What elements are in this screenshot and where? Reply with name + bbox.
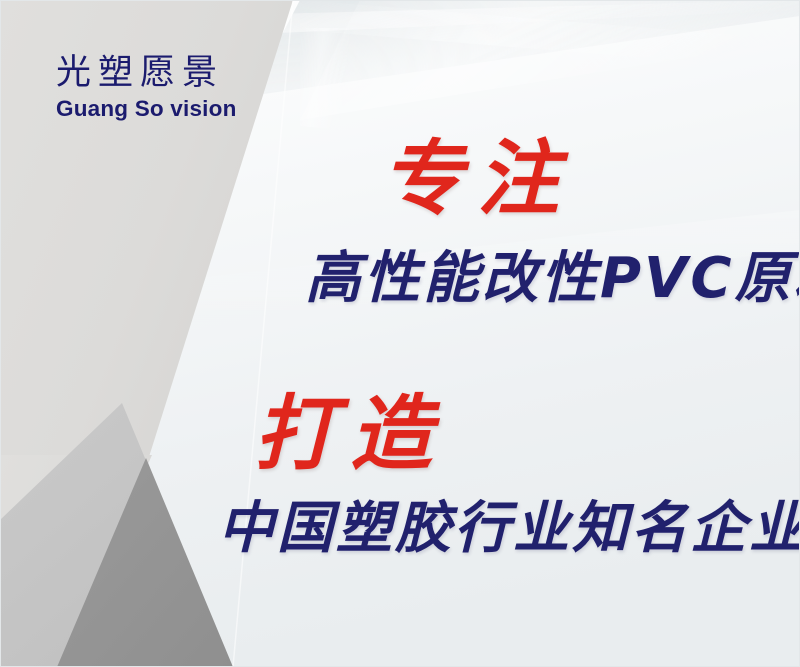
brand-logo: 光塑愿景 Guang So vision [56,54,286,121]
logo-chinese-name: 光塑愿景 [56,54,286,92]
slogan-focus: 专注 [381,112,573,231]
promo-banner: 光塑愿景 Guang So vision 专注 高性能改性PVC原料 打造 中国… [0,0,800,667]
slogan-goal-line: 中国塑胶行业知名企业 [218,483,800,564]
slogan-build: 打造 [254,367,446,486]
logo-english-name: Guang So vision [56,96,286,121]
slogan-product-line: 高性能改性PVC原料 [305,233,800,314]
